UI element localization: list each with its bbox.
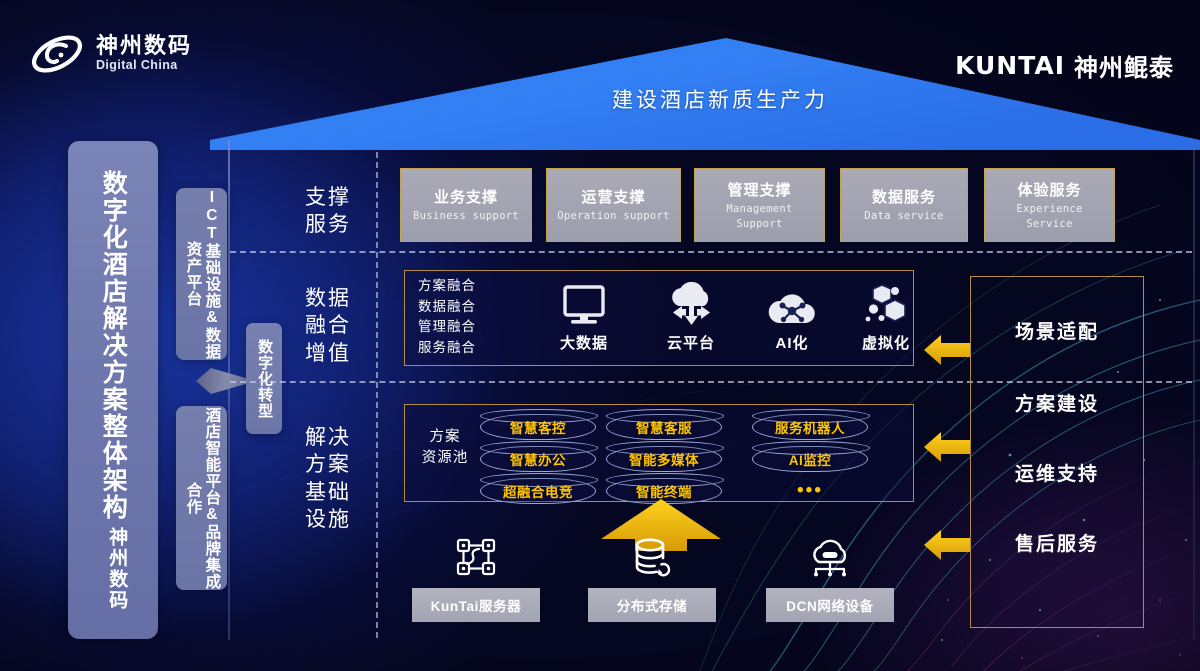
monitor-icon [538, 280, 630, 328]
pool-item-label: 智慧办公 [510, 449, 566, 469]
slide-canvas: 建设酒店新质生产力 神州数码 Digital China KUNTAI 神州鲲泰… [0, 0, 1200, 671]
support-box-cn: 管理支撑 [727, 179, 791, 200]
house-right-edge [1193, 140, 1195, 640]
panel-main-text: 数字化酒店解决方案整体架构 神州数码 [98, 170, 129, 611]
fusion-item-cloud[interactable]: 云平台 [645, 280, 737, 353]
row-divider-1 [230, 251, 1192, 253]
panel-hotel-label: 酒店智能平台&品牌集成合作 [183, 406, 221, 590]
house-left-edge [228, 140, 230, 640]
network-cloud-icon [766, 534, 894, 578]
right-panel-item-aftersales[interactable]: 售后服务 [971, 529, 1143, 556]
pool-item-ai-monitor[interactable]: AI监控 [752, 446, 868, 472]
infra-item-label: KunTai服务器 [412, 588, 540, 622]
pool-item-hyperconverged-esports[interactable]: 超融合电竞 [480, 478, 596, 504]
support-box-en: Operation support [557, 209, 670, 223]
support-box-business[interactable]: 业务支撑 Business support [400, 168, 532, 242]
pool-item-label: 智能多媒体 [629, 449, 699, 469]
pool-item-more[interactable]: ••• [752, 478, 868, 504]
kuntai-logo: KUNTAI 神州鲲泰 [955, 48, 1174, 83]
pool-item-label: ••• [797, 480, 823, 502]
fusion-item-bigdata[interactable]: 大数据 [538, 280, 630, 353]
panel-hotel-platform[interactable]: 酒店智能平台&品牌集成合作 [176, 406, 227, 590]
fusion-list-item: 服务融合 [418, 338, 476, 359]
arrow-left-icon [924, 432, 970, 462]
support-box-en: Business support [413, 209, 519, 223]
support-box-en: Experience Service [1002, 202, 1097, 230]
support-box-operation[interactable]: 运营支撑 Operation support [546, 168, 681, 242]
right-panel-item-scenario[interactable]: 场景适配 [971, 317, 1143, 344]
fusion-text-list: 方案融合 数据融合 管理融合 服务融合 [418, 276, 476, 358]
database-sync-icon [588, 534, 716, 578]
panel-ict-label: ICT基础设施&数据资产平台 [183, 188, 221, 360]
fusion-item-ai[interactable]: AI化 [746, 280, 838, 353]
row-label-solution: 解决 方案 基础 设施 [296, 424, 360, 533]
right-service-panel: 场景适配 方案建设 运维支持 售后服务 [970, 276, 1144, 628]
fusion-list-item: 方案融合 [418, 276, 476, 297]
support-box-cn: 数据服务 [872, 186, 936, 207]
fusion-list-item: 管理融合 [418, 317, 476, 338]
pool-item-smart-service[interactable]: 智慧客服 [606, 414, 722, 440]
infra-item-server[interactable]: KunTai服务器 [412, 534, 540, 622]
support-box-en: Data service [864, 209, 943, 223]
panel-ict-infrastructure[interactable]: ICT基础设施&数据资产平台 [176, 188, 227, 360]
support-box-data[interactable]: 数据服务 Data service [840, 168, 968, 242]
fusion-item-virtualization[interactable]: 虚拟化 [840, 280, 932, 353]
digital-china-swirl-icon [28, 28, 86, 80]
arrow-left-icon [924, 335, 970, 365]
cubes-icon [840, 280, 932, 328]
logo-en-text: Digital China [96, 57, 192, 75]
cloud-arrows-icon [645, 280, 737, 328]
cloud-ai-nodes-icon [746, 280, 838, 328]
row-label-support: 支撑 服务 [296, 184, 360, 239]
infra-item-label: 分布式存储 [588, 588, 716, 622]
panel-digital-transformation[interactable]: 数字化转型 [246, 323, 282, 434]
pool-item-multimedia[interactable]: 智能多媒体 [606, 446, 722, 472]
pool-item-label: 智慧客服 [636, 417, 692, 437]
support-box-experience[interactable]: 体验服务 Experience Service [984, 168, 1115, 242]
panel-main-title: 数字化酒店解决方案整体架构 [98, 170, 129, 521]
infra-item-network[interactable]: DCN网络设备 [766, 534, 894, 622]
fusion-list-item: 数据融合 [418, 297, 476, 318]
kuntai-cn-text: 神州鲲泰 [1074, 48, 1174, 83]
kuntai-en-text: KUNTAI [955, 51, 1065, 80]
support-box-cn: 体验服务 [1017, 179, 1081, 200]
digital-china-logo: 神州数码 Digital China [28, 28, 192, 80]
right-panel-item-ops[interactable]: 运维支持 [971, 459, 1143, 486]
support-box-cn: 业务支撑 [434, 186, 498, 207]
fusion-item-label: AI化 [746, 332, 838, 353]
infra-item-label: DCN网络设备 [766, 588, 894, 622]
support-box-management[interactable]: 管理支撑 Management Support [694, 168, 825, 242]
row-label-fusion: 数据 融合 增值 [296, 285, 360, 367]
fusion-item-label: 云平台 [645, 332, 737, 353]
pool-item-label: 超融合电竞 [503, 481, 573, 501]
server-nodes-icon [412, 534, 540, 578]
arrow-left-icon [924, 530, 970, 560]
fusion-item-label: 虚拟化 [840, 332, 932, 353]
pool-item-label: 智慧客控 [510, 417, 566, 437]
pool-item-service-robot[interactable]: 服务机器人 [752, 414, 868, 440]
vertical-dashed-divider [376, 152, 378, 638]
right-panel-item-construction[interactable]: 方案建设 [971, 389, 1143, 416]
roof-title: 建设酒店新质生产力 [612, 84, 828, 114]
panel-overall-architecture[interactable]: 数字化酒店解决方案整体架构 神州数码 [68, 141, 158, 639]
infra-item-storage[interactable]: 分布式存储 [588, 534, 716, 622]
fusion-item-label: 大数据 [538, 332, 630, 353]
pool-item-smart-room[interactable]: 智慧客控 [480, 414, 596, 440]
panel-trans-label: 数字化转型 [255, 339, 273, 419]
pool-item-smart-office[interactable]: 智慧办公 [480, 446, 596, 472]
resource-pool-label: 方案 资源池 [414, 427, 476, 469]
panel-main-sub: 神州数码 [98, 527, 129, 611]
support-box-en: Management Support [710, 202, 810, 230]
logo-cn-text: 神州数码 [96, 34, 192, 57]
pool-item-label: 智能终端 [636, 481, 692, 501]
support-box-cn: 运营支撑 [581, 186, 645, 207]
pool-item-label: AI监控 [789, 449, 832, 469]
pool-item-label: 服务机器人 [775, 417, 845, 437]
